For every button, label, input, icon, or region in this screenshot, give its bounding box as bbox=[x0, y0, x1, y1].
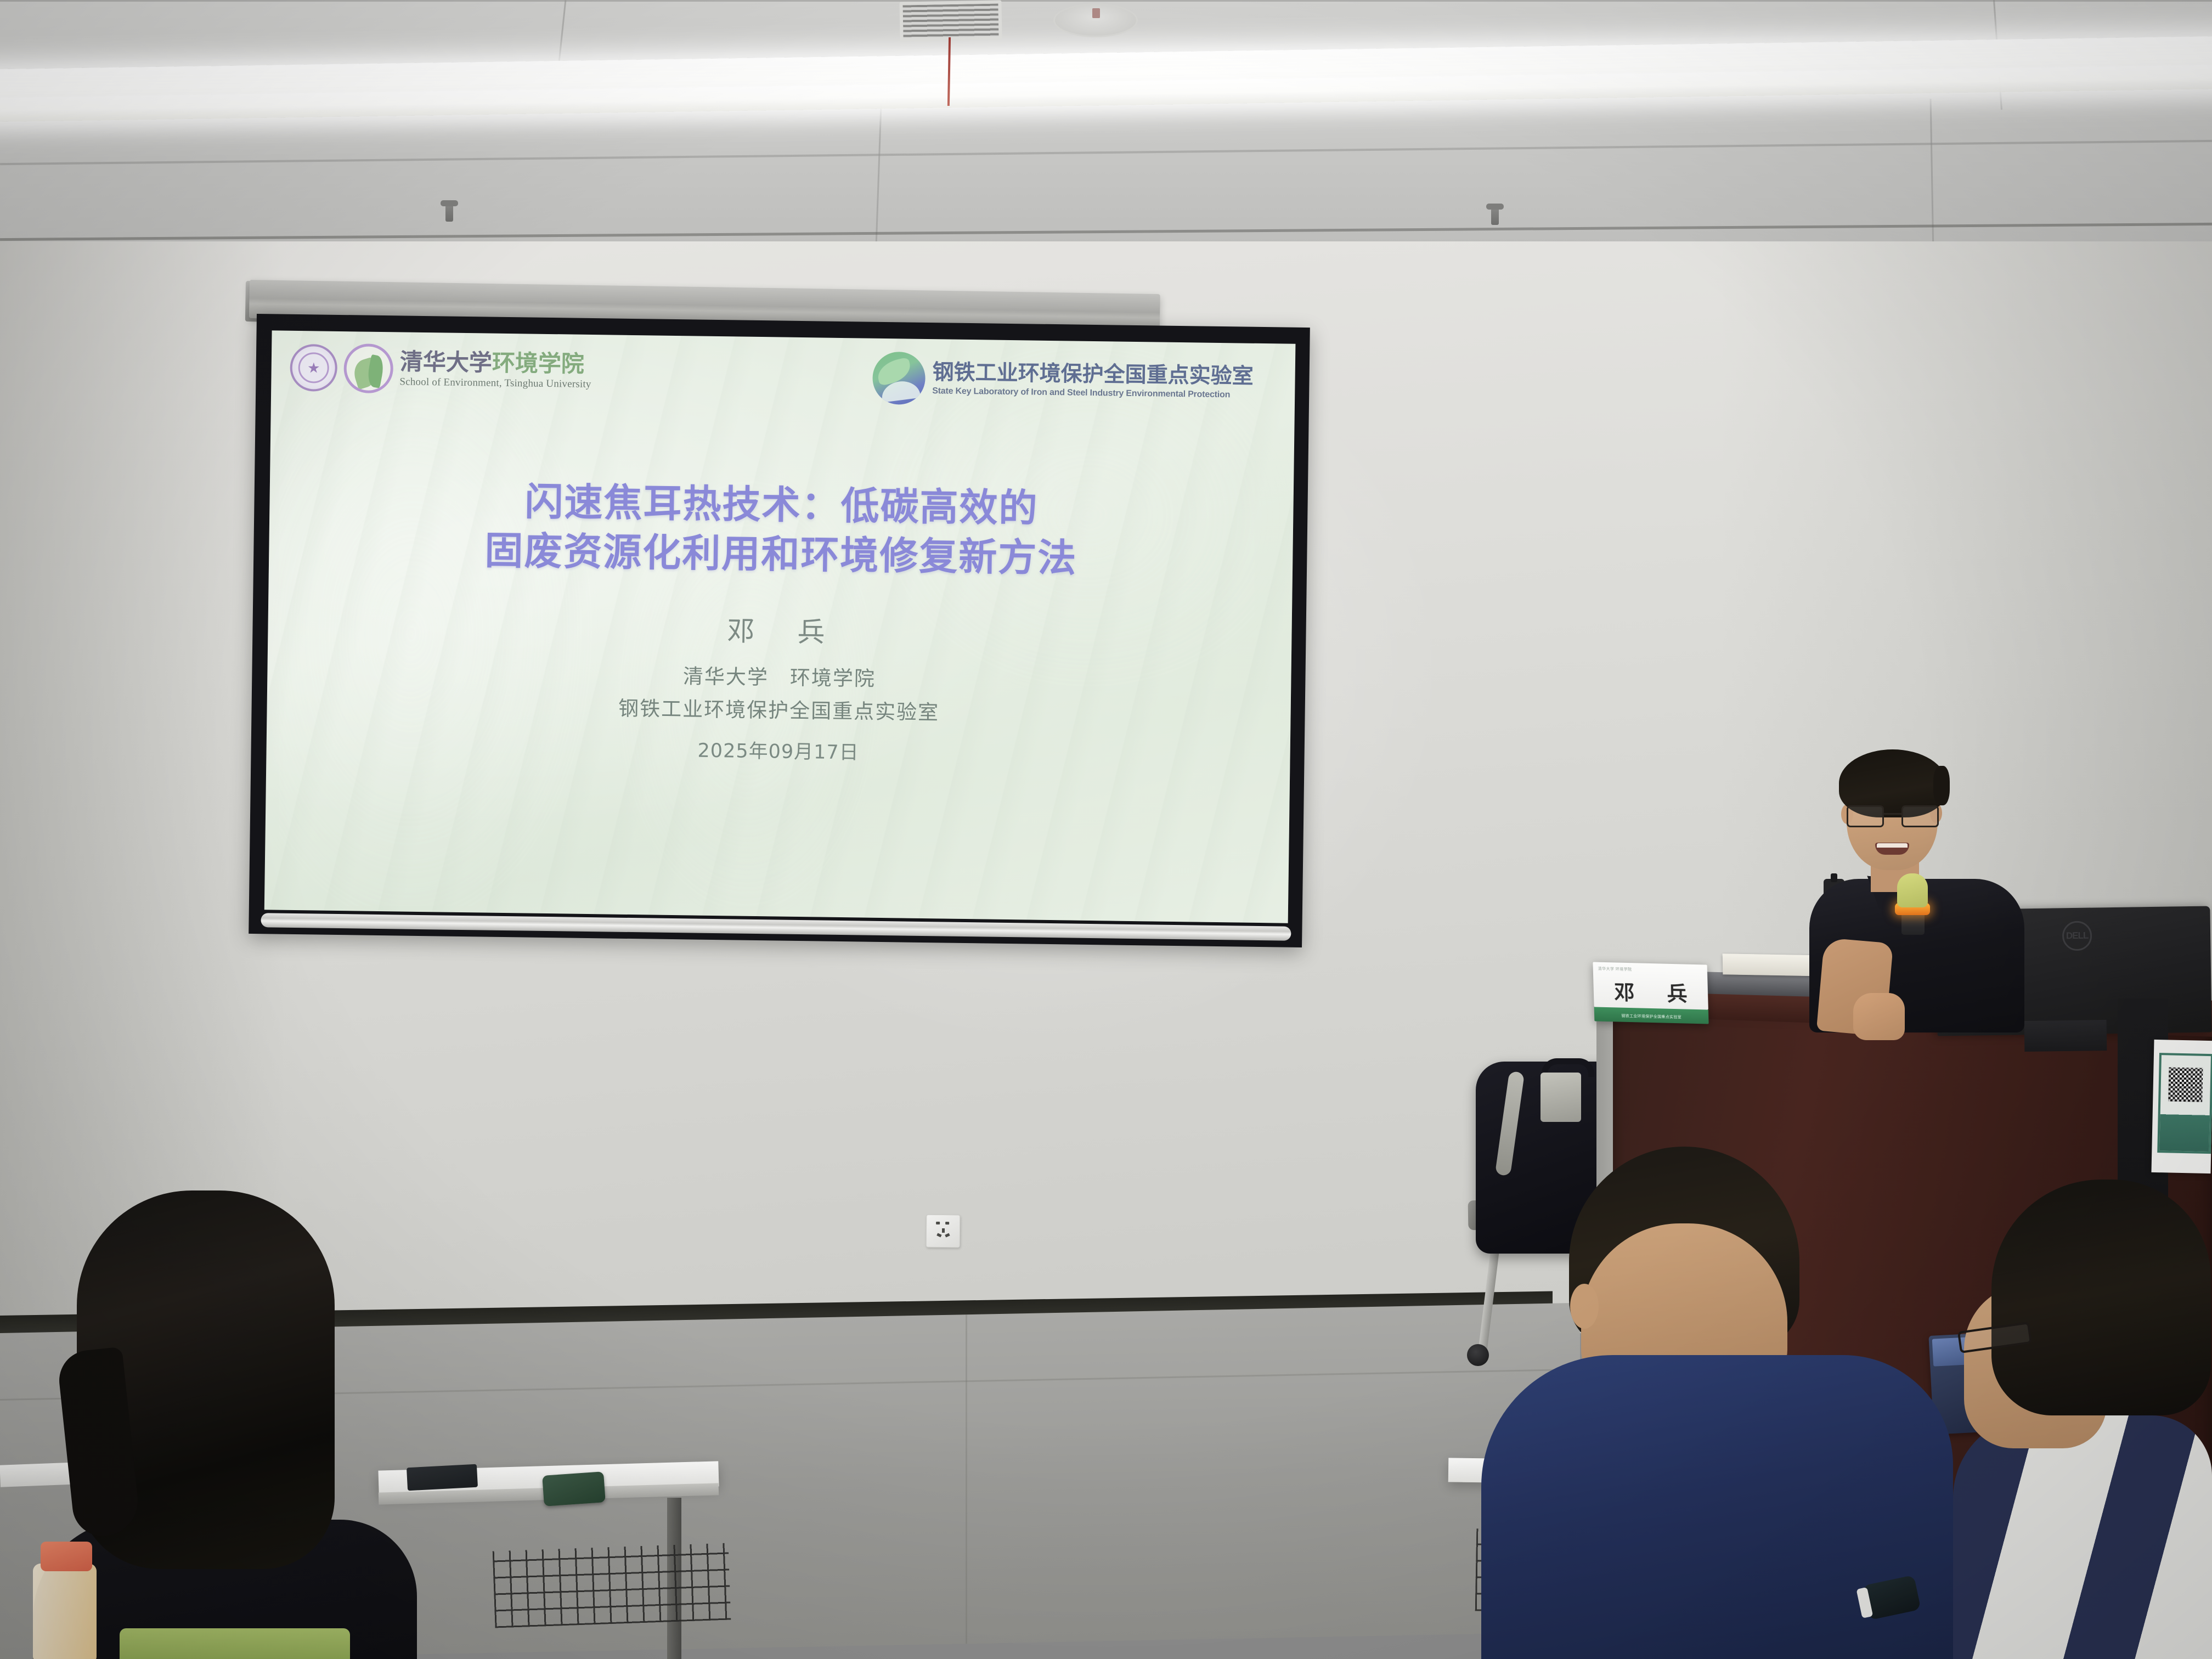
tsinghua-school-cn: 环境学院 bbox=[492, 349, 585, 377]
dell-logo-icon: DELL bbox=[2062, 921, 2092, 951]
slide-author-name: 邓 兵 bbox=[286, 603, 1273, 656]
monitor-stand bbox=[2024, 1020, 2107, 1052]
state-key-lab-cn: 钢铁工业环境保护全国重点实验室 bbox=[932, 361, 1254, 389]
smartphone-icon bbox=[542, 1471, 606, 1506]
slide-date: 2025年09月17日 bbox=[285, 730, 1272, 771]
slide-surface: 清华大学环境学院 School of Environment, Tsinghua… bbox=[264, 330, 1296, 923]
sprinkler-head-icon bbox=[445, 203, 453, 222]
mic-foam-windscreen bbox=[1897, 873, 1928, 907]
audience-person-far-right bbox=[1953, 1180, 2212, 1659]
speaker-nameplate: 清华大学 环境学院 邓 兵 钢铁工业环境保护全国重点实验室 bbox=[1593, 962, 1708, 1024]
slide-logo-row: 清华大学环境学院 School of Environment, Tsinghua… bbox=[290, 343, 1277, 422]
water-bottle-icon bbox=[33, 1564, 97, 1659]
state-key-lab-logo-block: 钢铁工业环境保护全国重点实验室 State Key Laboratory of … bbox=[872, 352, 1254, 409]
ceiling bbox=[0, 0, 2212, 258]
wall-power-outlet-icon bbox=[926, 1215, 961, 1248]
lecture-hall-scene: 清华大学环境学院 School of Environment, Tsinghua… bbox=[0, 0, 2212, 1659]
tsinghua-logo-block: 清华大学环境学院 School of Environment, Tsinghua… bbox=[290, 343, 591, 396]
tsinghua-name-cn: 清华大学环境学院 bbox=[400, 349, 592, 376]
projection-screen-icon: 清华大学环境学院 School of Environment, Tsinghua… bbox=[249, 314, 1310, 947]
smoke-detector-icon bbox=[1053, 3, 1138, 37]
wall-shadow-left bbox=[0, 241, 285, 1333]
desk-wire-basket-left bbox=[493, 1543, 731, 1628]
green-chair-back bbox=[120, 1628, 350, 1659]
leaf-emblem-icon bbox=[343, 343, 393, 393]
hvac-vent-icon bbox=[899, 0, 1002, 41]
tsinghua-univ-cn: 清华大学 bbox=[400, 348, 493, 376]
slide-affiliation: 清华大学 环境学院 钢铁工业环境保护全国重点实验室 bbox=[285, 655, 1272, 733]
tsinghua-seal-icon bbox=[290, 344, 337, 392]
eyeglasses-icon bbox=[1844, 805, 1942, 827]
bottle-cap bbox=[41, 1542, 92, 1571]
qr-code-poster-icon bbox=[2151, 1040, 2212, 1173]
nameplate-header: 清华大学 环境学院 bbox=[1598, 966, 1632, 973]
tsinghua-name-en: School of Environment, Tsinghua Universi… bbox=[399, 376, 591, 391]
leaf-hand-globe-icon bbox=[872, 352, 926, 405]
sprinkler-head-icon-2 bbox=[1491, 206, 1499, 225]
nameplate-name: 邓 兵 bbox=[1593, 975, 1708, 1007]
speaker-person bbox=[1794, 735, 2046, 1020]
audience-person-center-right bbox=[1481, 1147, 1942, 1659]
slide-title: 闪速焦耳热技术：低碳高效的 固废资源化利用和环境修复新方法 bbox=[287, 475, 1275, 586]
qr-code-icon bbox=[2168, 1067, 2203, 1102]
state-key-lab-en: State Key Laboratory of Iron and Steel I… bbox=[932, 386, 1253, 400]
